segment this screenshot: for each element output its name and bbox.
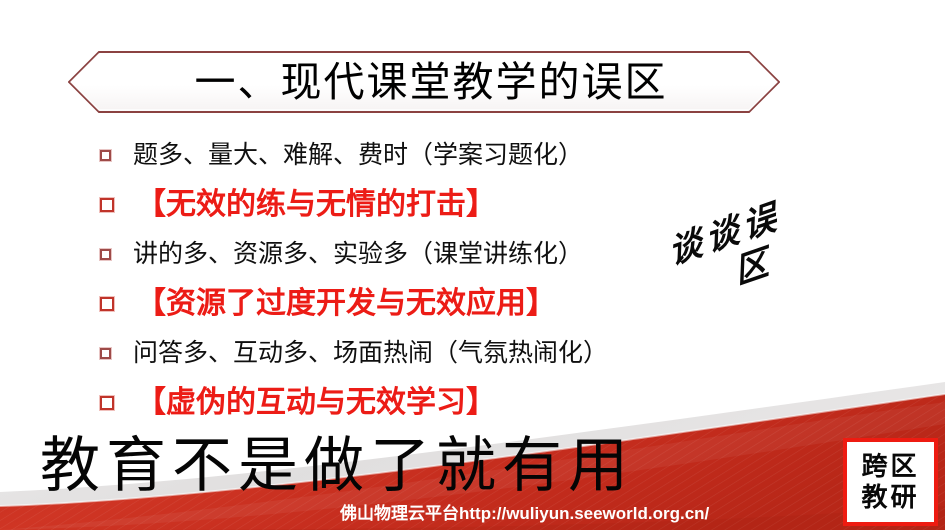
list-item-label: 【无效的练与无情的打击】: [136, 190, 496, 220]
footer-slogan: 教育不是做了就有用: [40, 436, 634, 496]
list-item-label: 讲的多、资源多、实验多（课堂讲练化）: [133, 242, 583, 267]
slide-canvas: 一、现代课堂教学的误区 题多、量大、难解、费时（学案习题化） 【无效的练与无情的…: [0, 0, 945, 530]
hollow-square-icon: [100, 348, 111, 359]
list-item-label: 题多、量大、难解、费时（学案习题化）: [133, 143, 583, 168]
list-item: 【无效的练与无情的打击】: [100, 178, 740, 231]
page-title: 一、现代课堂教学的误区: [68, 51, 780, 113]
hollow-square-icon: [100, 249, 111, 260]
list-item-label: 问答多、互动多、场面热闹（气氛热闹化）: [133, 341, 608, 366]
title-banner: 一、现代课堂教学的误区: [68, 51, 780, 113]
hollow-square-icon: [100, 150, 111, 161]
list-item: 问答多、互动多、场面热闹（气氛热闹化）: [100, 330, 740, 376]
logo-line-1: 跨区: [861, 451, 919, 482]
list-item: 讲的多、资源多、实验多（课堂讲练化）: [100, 231, 740, 277]
list-item: 【资源了过度开发与无效应用】: [100, 277, 740, 330]
list-item: 题多、量大、难解、费时（学案习题化）: [100, 132, 740, 178]
footer-url-text: 佛山物理云平台http://wuliyun.seeworld.org.cn/: [340, 505, 709, 522]
organization-logo: 跨区 教研: [843, 438, 938, 526]
list-item-label: 【资源了过度开发与无效应用】: [136, 289, 556, 319]
handwritten-line-2: 区: [732, 245, 771, 290]
logo-line-2: 教研: [861, 482, 919, 513]
hollow-square-icon: [100, 297, 114, 311]
hollow-square-icon: [100, 198, 114, 212]
